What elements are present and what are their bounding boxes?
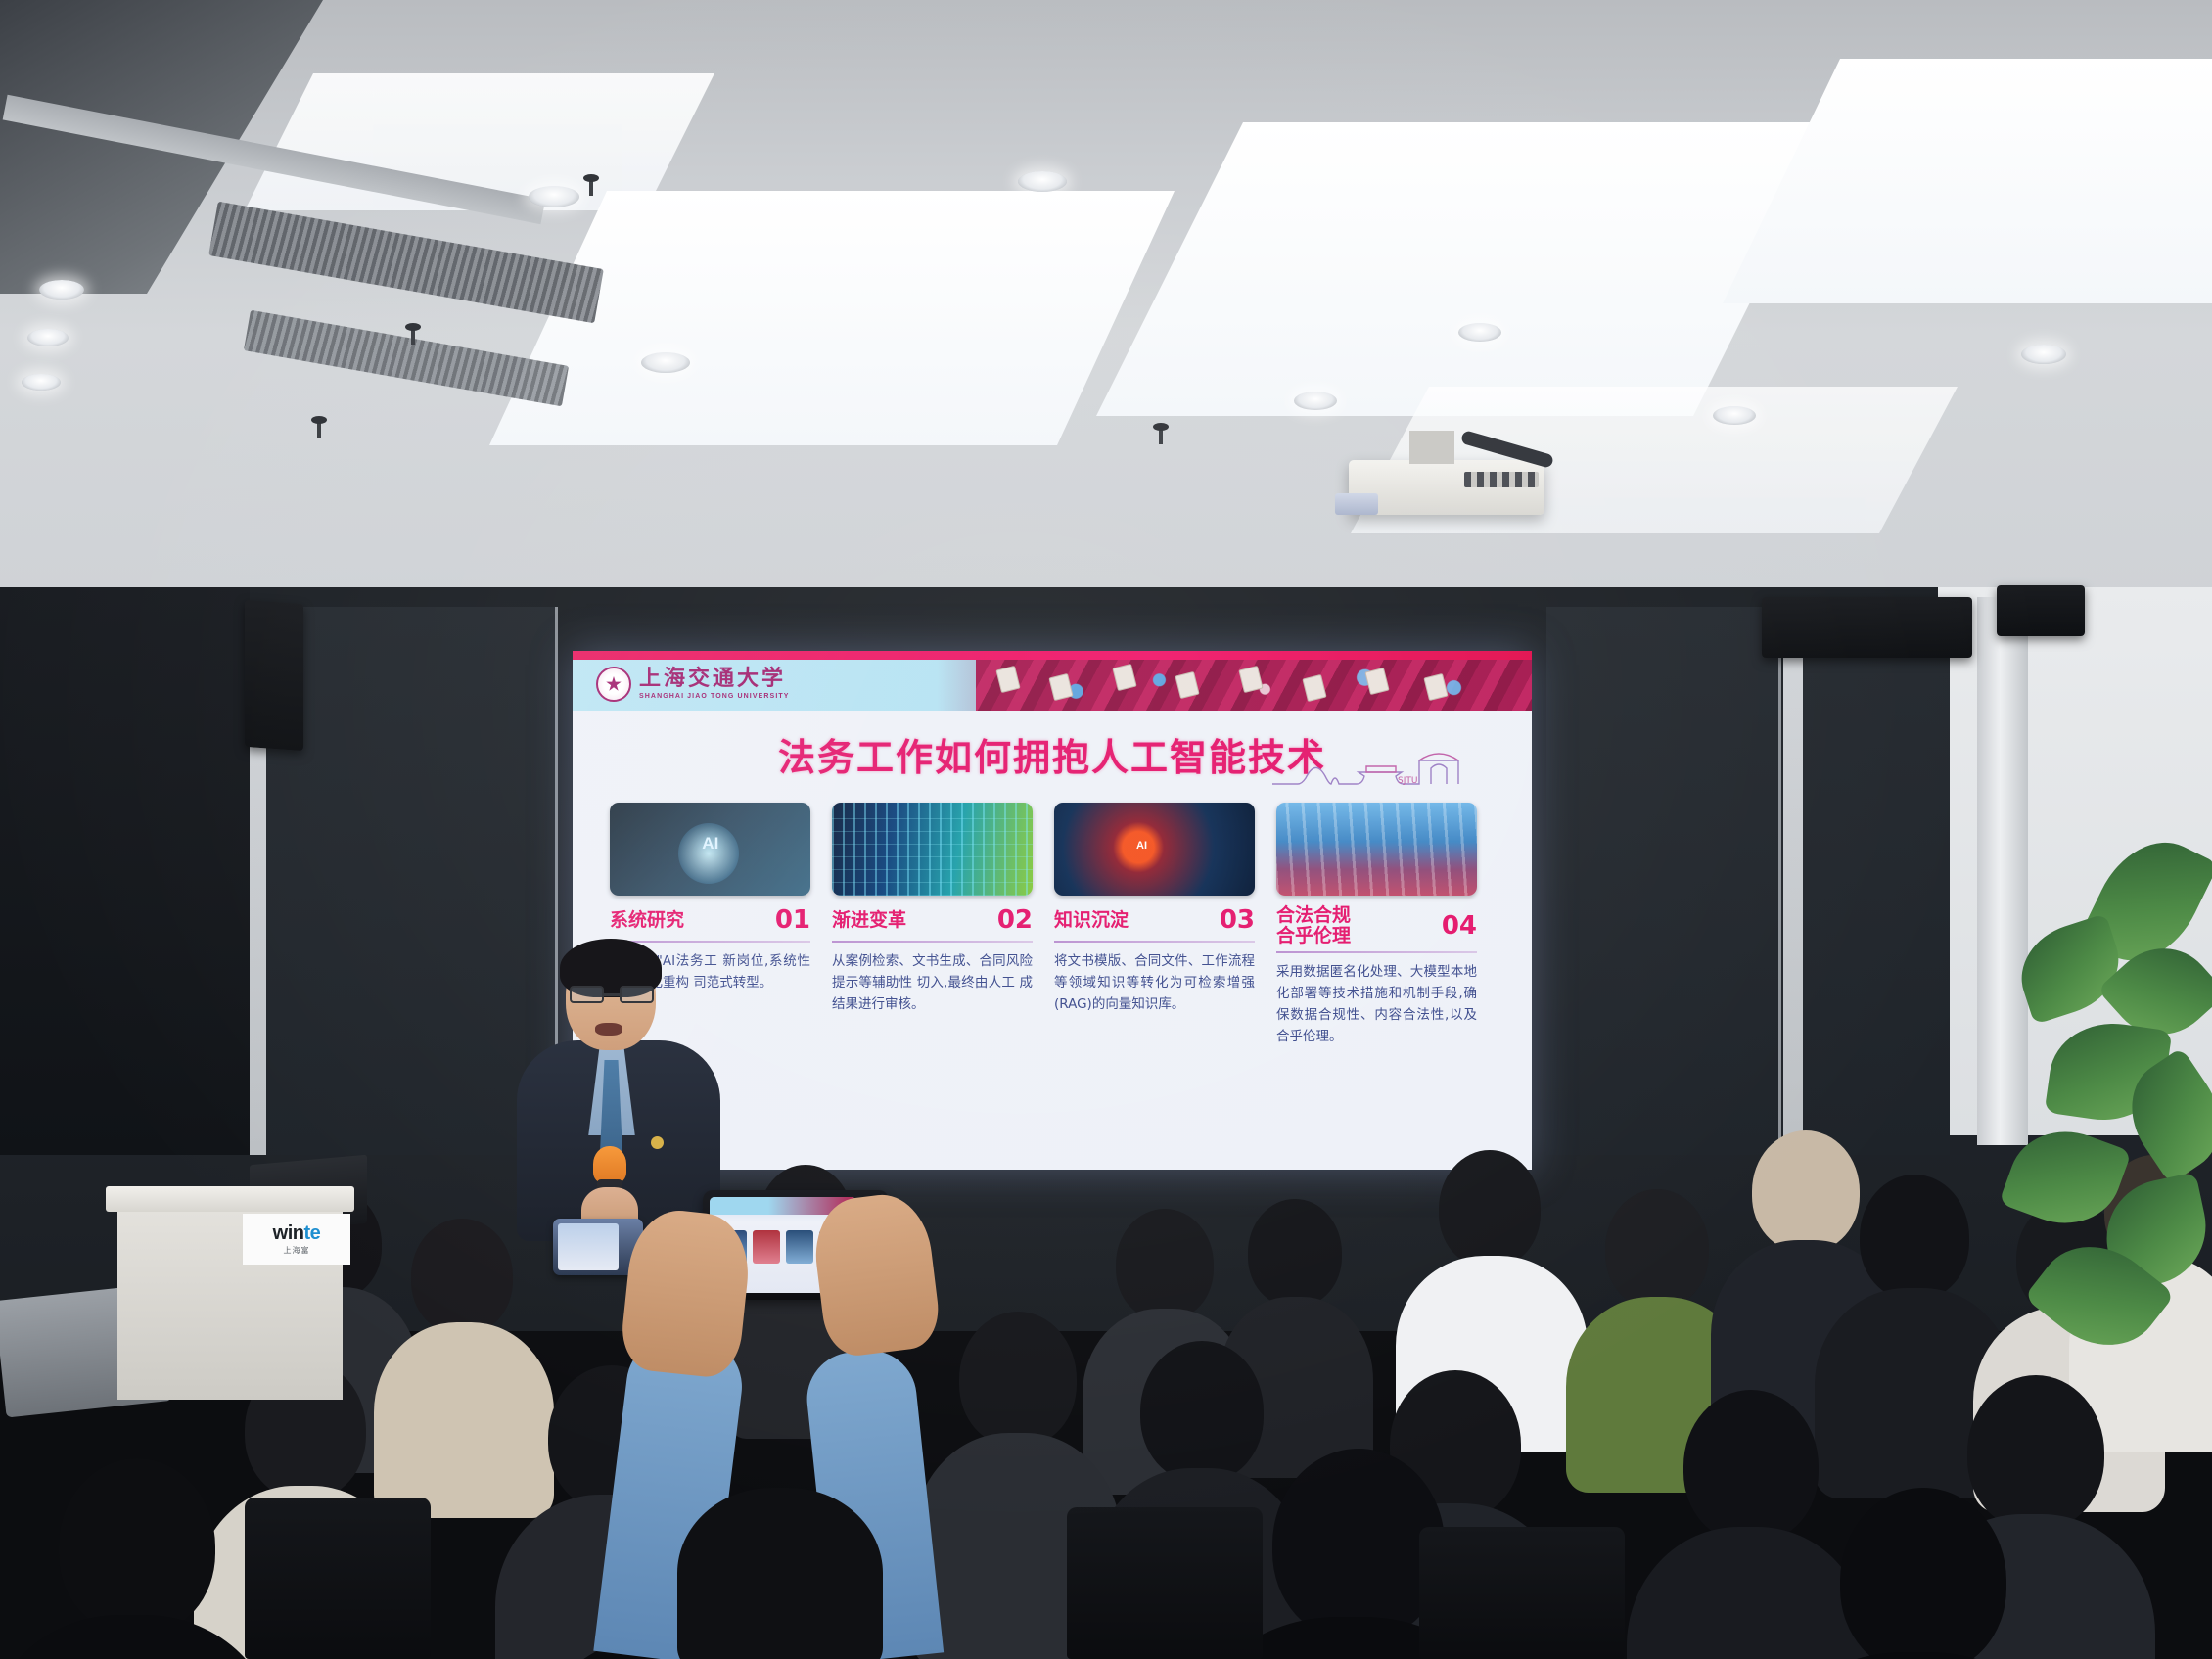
recessed-downlight <box>1458 323 1501 342</box>
card-label: 渐进变革 <box>832 910 906 931</box>
sponsor-sub-text: 上海富 <box>284 1245 310 1256</box>
photo-scene: 上海交通大学 SHANGHAI JIAO TONG UNIVERSITY 法务工… <box>0 0 2212 1659</box>
card-header: 渐进变革 02 <box>832 905 1033 935</box>
fire-sprinkler-icon <box>311 416 327 438</box>
card-image-circuit-board <box>832 803 1033 896</box>
chair-back <box>1067 1507 1263 1659</box>
slide-top-accent-bar <box>573 651 1532 660</box>
recessed-downlight <box>1294 392 1337 410</box>
ceiling-projector <box>1349 460 1544 515</box>
card-number: 04 <box>1442 911 1477 941</box>
photographer-hand <box>619 1206 755 1380</box>
slide-card: 知识沉淀 03 将文书模版、合同文件、工作流程等领域知识等转化为可检索增强(RA… <box>1054 803 1255 1047</box>
recessed-downlight <box>641 352 690 373</box>
sponsor-brand-text: winte <box>273 1222 321 1245</box>
acoustic-wall-panel <box>0 587 250 1155</box>
fire-sprinkler-icon <box>583 174 599 196</box>
card-body-text: 将文书模版、合同文件、工作流程等领域知识等转化为可检索增强(RAG)的向量知识库… <box>1054 951 1255 1016</box>
card-number: 02 <box>997 905 1033 935</box>
logo-english-name: SHANGHAI JIAO TONG UNIVERSITY <box>639 693 790 700</box>
glasses-icon <box>570 986 654 1003</box>
loudspeaker <box>1762 597 1972 658</box>
ceiling-light-panel <box>1096 122 1840 416</box>
recessed-downlight <box>22 374 61 391</box>
recessed-downlight <box>1018 171 1067 192</box>
speaker-lapel-badge <box>651 1136 664 1149</box>
speaker-mouth <box>595 1023 622 1036</box>
sjtu-seal-icon <box>596 667 631 702</box>
projector-ports <box>1464 472 1539 487</box>
lectern: winte 上海富 <box>117 1204 343 1400</box>
projector-mount <box>1409 431 1454 464</box>
card-body-text: 从案例检索、文书生成、合同风险提示等辅助性 切入,最终由人工 成结果进行审核。 <box>832 951 1033 1016</box>
card-divider <box>610 941 810 943</box>
slide-header-banner: 上海交通大学 SHANGHAI JIAO TONG UNIVERSITY <box>573 660 1532 711</box>
ceiling <box>0 0 2212 607</box>
loudspeaker <box>245 600 303 751</box>
ceiling-light-panel <box>1723 59 2212 303</box>
photographer-hand <box>809 1189 944 1359</box>
card-number: 01 <box>775 905 810 935</box>
recessed-downlight <box>2021 345 2066 364</box>
card-label: 知识沉淀 <box>1054 910 1129 931</box>
card-divider <box>832 941 1033 943</box>
potted-plant <box>2011 837 2212 1385</box>
card-image-ai-globe-hand <box>610 803 810 896</box>
audience-photographer <box>587 1165 1047 1659</box>
recessed-downlight <box>27 329 69 346</box>
card-header: 合法合规 合乎伦理 04 <box>1276 905 1477 945</box>
card-divider <box>1276 951 1477 953</box>
ceiling-air-grille <box>208 202 604 324</box>
slide-card: 渐进变革 02 从案例检索、文书生成、合同风险提示等辅助性 切入,最终由人工 成… <box>832 803 1033 1047</box>
university-logo: 上海交通大学 SHANGHAI JIAO TONG UNIVERSITY <box>596 667 790 702</box>
card-header: 系统研究 01 <box>610 905 810 935</box>
recessed-downlight <box>1713 406 1756 425</box>
logo-chinese-name: 上海交通大学 <box>639 668 790 690</box>
card-header: 知识沉淀 03 <box>1054 905 1255 935</box>
skyline-label: SJTU <box>1398 776 1417 786</box>
fire-sprinkler-icon <box>405 323 421 345</box>
wall-light-strip <box>1783 607 1803 1155</box>
card-label: 合法合规 合乎伦理 <box>1276 905 1351 945</box>
slide-card-row: 系统研究 01 性设立 "AI法务工 新岗位,系统性 作流优化重构 司范式转型。… <box>610 803 1498 1047</box>
sjtu-skyline-graphic: SJTU <box>1272 743 1502 788</box>
photographer-head <box>677 1488 883 1659</box>
card-label: 系统研究 <box>610 910 684 931</box>
header-tile-decor <box>956 666 1484 695</box>
card-image-city-skyline <box>1276 803 1477 896</box>
card-image-ai-orb-hand <box>1054 803 1255 896</box>
card-number: 03 <box>1220 905 1255 935</box>
lectern-sponsor-sign: winte 上海富 <box>243 1214 350 1265</box>
projector-lens <box>1335 493 1378 515</box>
card-body-text: 采用数据匿名化处理、大模型本地化部署等技术措施和机制手段,确保数据合规性、内容合… <box>1276 962 1477 1047</box>
loudspeaker <box>1997 585 2085 636</box>
recessed-downlight <box>39 280 84 300</box>
chair-back <box>1419 1527 1625 1659</box>
slide-card: 合法合规 合乎伦理 04 采用数据匿名化处理、大模型本地化部署等技术措施和机制手… <box>1276 803 1477 1047</box>
chair-back <box>245 1498 431 1659</box>
acoustic-wall-panel <box>1803 607 1950 1155</box>
lectern-top <box>106 1186 354 1212</box>
card-divider <box>1054 941 1255 943</box>
fire-sprinkler-icon <box>1153 423 1169 444</box>
acoustic-wall-panel <box>1546 607 1781 1155</box>
recessed-downlight <box>529 186 579 207</box>
